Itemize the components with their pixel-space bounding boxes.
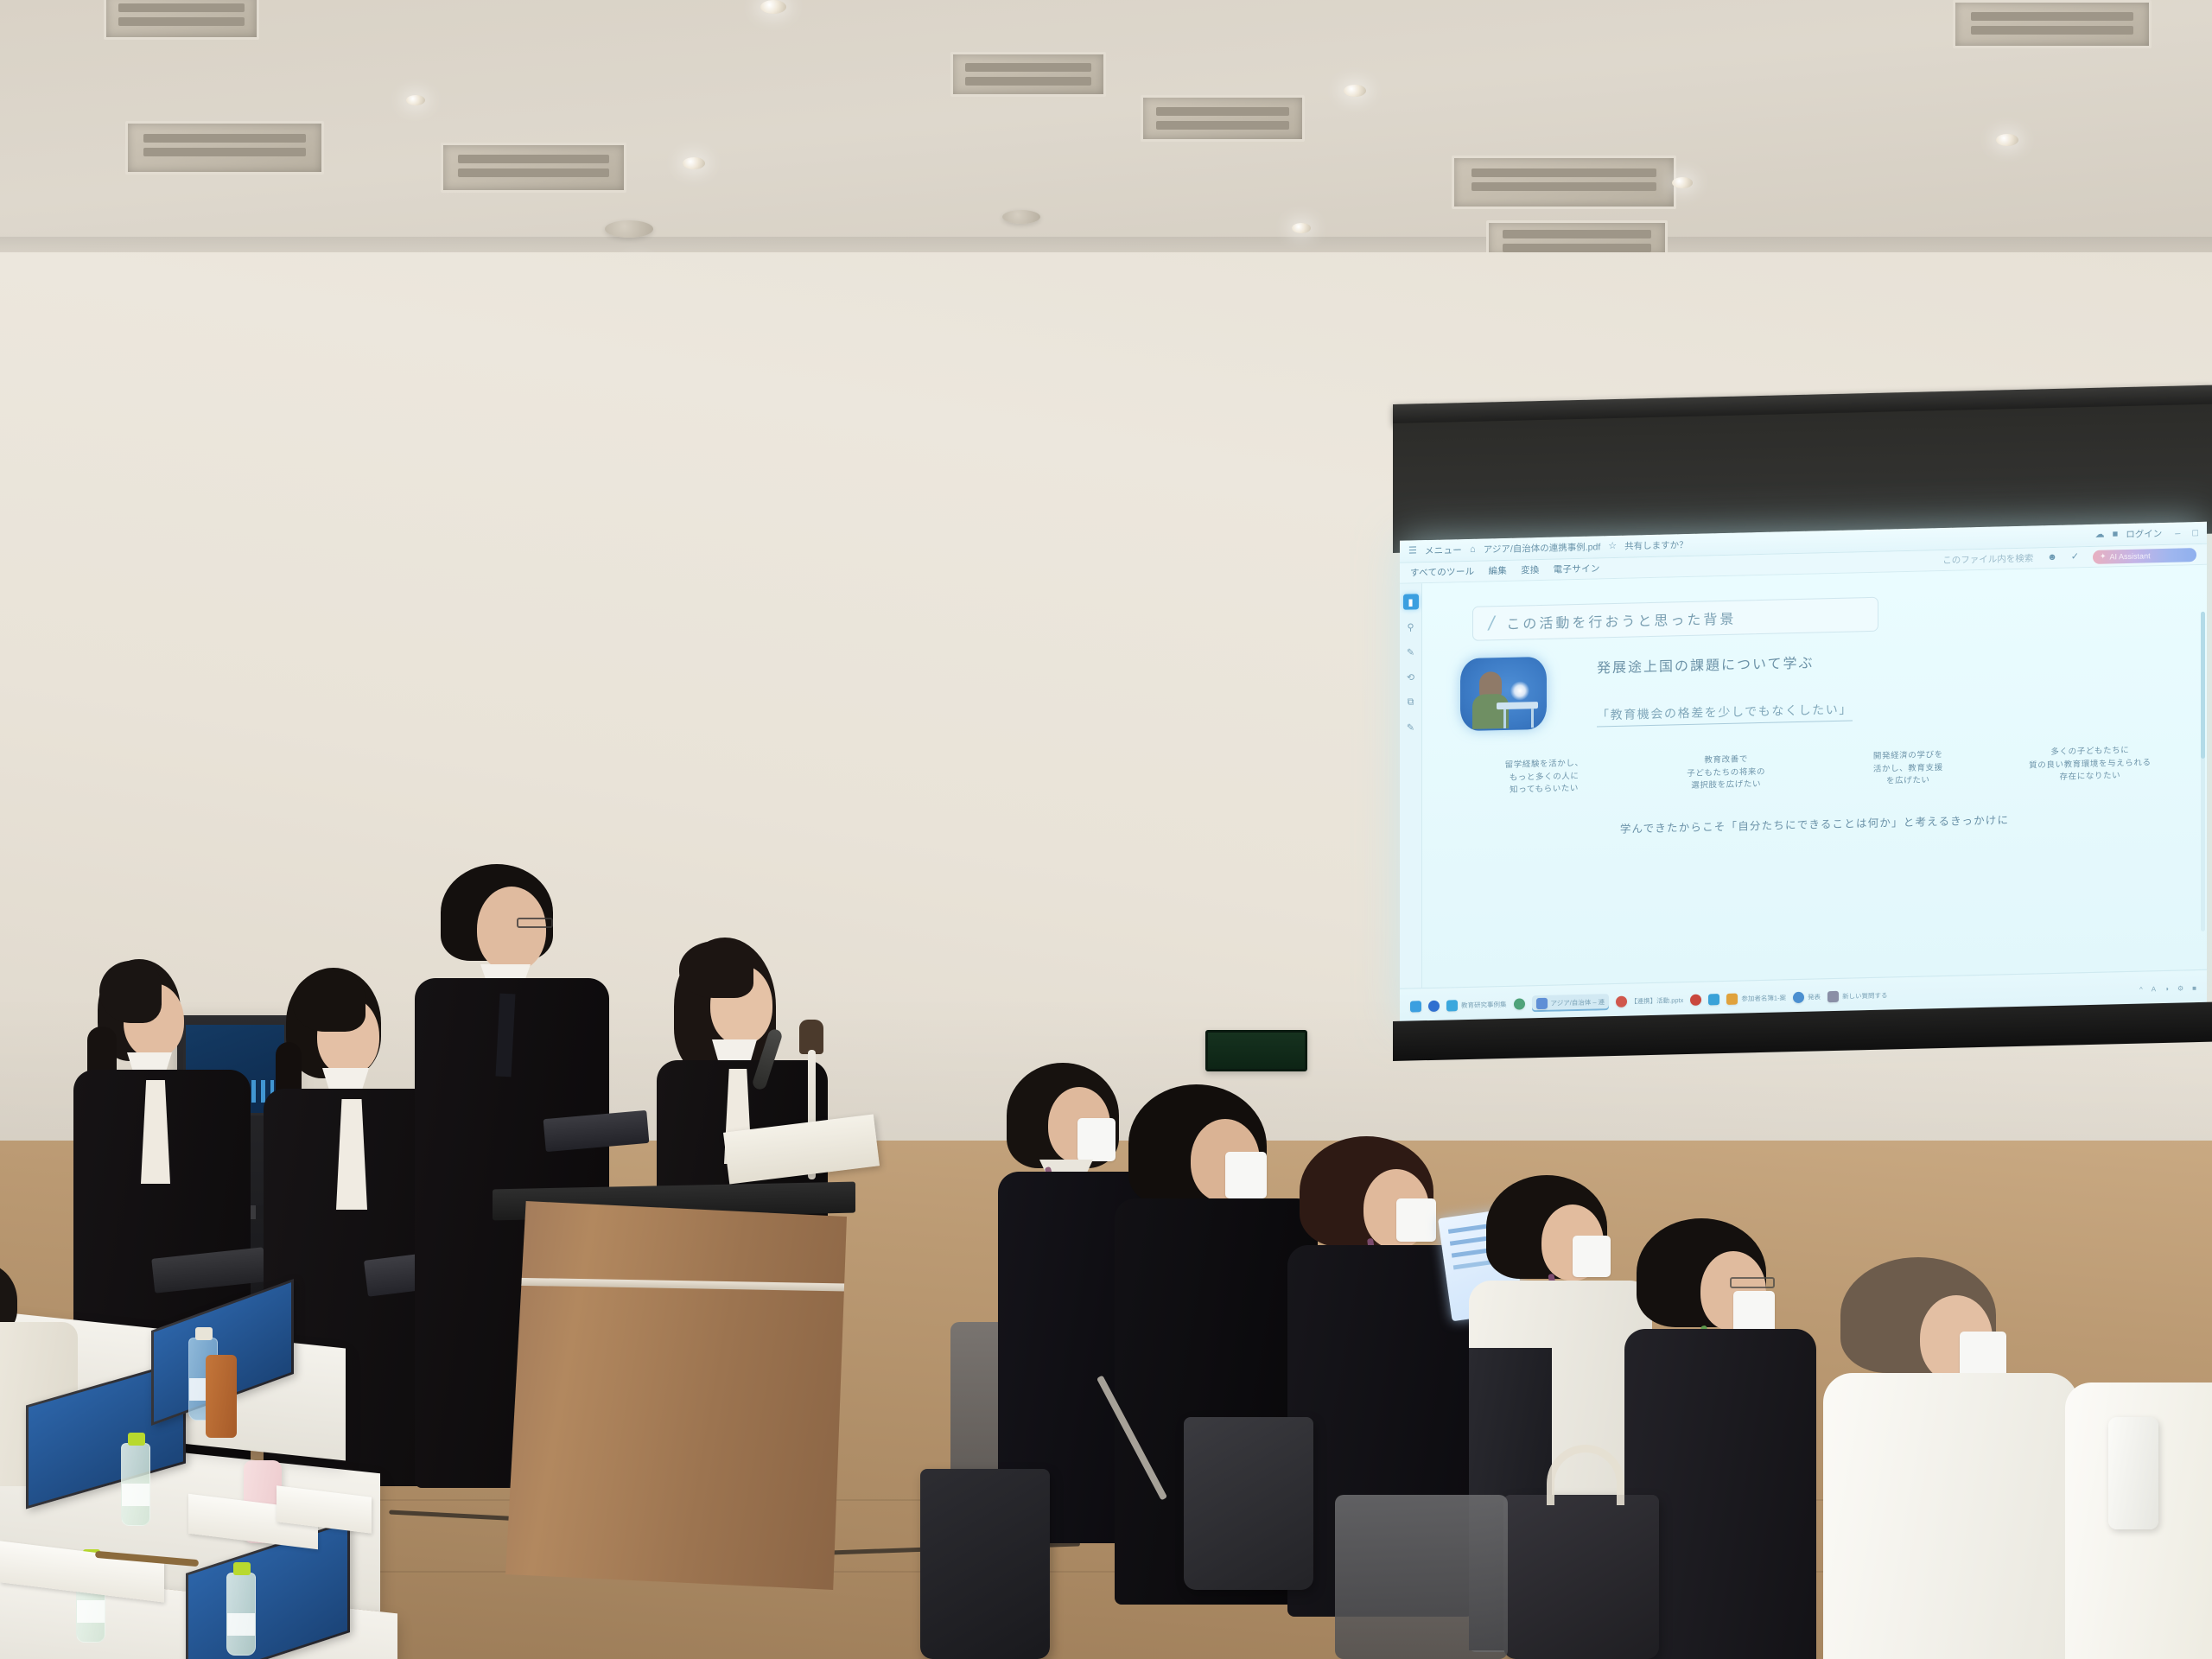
hamburger-menu-icon[interactable]: ☰ — [1408, 546, 1417, 556]
slide-heading-text: この活動を行おうと思った背景 — [1506, 607, 1736, 633]
water-bottle-1 — [121, 1443, 150, 1526]
face-mask — [1077, 1118, 1116, 1161]
ceiling-vent-4 — [950, 52, 1106, 97]
taskbar-app-5-active[interactable]: アジア/自治体 – 連 — [1532, 994, 1610, 1012]
maximize-button[interactable]: □ — [2192, 528, 2198, 538]
taskbar-app-10[interactable]: 発表 — [1793, 991, 1821, 1003]
minimize-button[interactable]: – — [2175, 528, 2180, 538]
taskbar-label-5: アジア/自治体 – 連 — [1551, 997, 1605, 1007]
taskbar-app-4[interactable] — [1514, 998, 1525, 1009]
check-icon[interactable]: ✓ — [2071, 552, 2079, 562]
head — [477, 887, 546, 971]
menu-esign[interactable]: 電子サイン — [1554, 562, 1600, 575]
tray-network-icon[interactable]: ◑ — [2164, 985, 2169, 993]
downlight-6 — [1292, 223, 1311, 233]
slide-heading-box: / この活動を行おうと思った背景 — [1472, 597, 1878, 641]
sparkle-icon: ✦ — [2100, 552, 2107, 562]
slide-main-line: 発展途上国の課題について学ぶ — [1597, 650, 1853, 677]
pen-tool[interactable]: ✎ — [1403, 644, 1419, 659]
home-icon[interactable]: ⌂ — [1470, 545, 1476, 555]
slide-heading-slash: / — [1486, 612, 1497, 635]
tray-battery-icon[interactable]: ■ — [2192, 984, 2196, 992]
zoom-tool[interactable]: ⚲ — [1403, 619, 1419, 634]
taskbar-label-9: 参加者名簿1-案 — [1741, 993, 1786, 1003]
menu-edit[interactable]: 編集 — [1488, 564, 1507, 578]
taskbar-label-3: 教育研究事例集 — [1461, 1000, 1507, 1010]
taskbar-app-2[interactable] — [1428, 1001, 1440, 1012]
search-input[interactable]: このファイル内を検索 — [1942, 552, 2033, 567]
taskbar-app-1[interactable] — [1410, 1001, 1421, 1012]
thermos-tumbler-right — [2108, 1417, 2158, 1529]
projection-screen: ☰ メニュー ⌂ アジア/自治体の連携事例.pdf ☆ 共有しますか？ ☁ ■ … — [1393, 385, 2212, 1061]
slide-main-row: 発展途上国の課題について学ぶ 「教育機会の格差を少しでもなくしたい」 — [1460, 641, 2207, 731]
ceiling-vent-6 — [1452, 156, 1676, 209]
downlight-8 — [1672, 177, 1693, 188]
pdf-scrollbar[interactable] — [2201, 612, 2205, 931]
face-mask — [1396, 1198, 1436, 1242]
account-icon[interactable]: ■ — [2113, 530, 2119, 539]
star-icon[interactable]: ☆ — [1608, 542, 1617, 551]
ceiling-vent-8 — [1953, 0, 2152, 48]
taskbar-app-8[interactable] — [1708, 994, 1719, 1005]
attendee-white-shirt-2 — [1823, 1257, 2082, 1659]
hair-front — [99, 961, 162, 1023]
taskbar-label-11: 新しい質問する — [1842, 991, 1888, 1001]
tea-bottle — [206, 1355, 237, 1438]
taskbar-app-7[interactable] — [1690, 995, 1701, 1006]
projected-image: ☰ メニュー ⌂ アジア/自治体の連携事例.pdf ☆ 共有しますか？ ☁ ■ … — [1400, 522, 2207, 1025]
microphone-stand-head — [799, 1020, 823, 1054]
document-name[interactable]: アジア/自治体の連携事例.pdf — [1484, 540, 1601, 556]
smoke-detector-1 — [605, 220, 653, 238]
emoji-icon[interactable]: ☻ — [2047, 553, 2057, 563]
taskbar-label-10: 発表 — [1808, 992, 1821, 1001]
taskbar-tray: ^ A ◑ ⚙ ■ — [2139, 984, 2196, 994]
reason-column-2: 教育改善で 子どもたちの将来の 選択肢を広げたい — [1649, 753, 1803, 794]
taskbar-app-11[interactable]: 新しい質問する — [1827, 990, 1888, 1003]
downlight-2 — [683, 157, 705, 169]
chair-back-2 — [1335, 1495, 1508, 1659]
bangs — [293, 971, 365, 1032]
bangs — [679, 941, 753, 998]
downlight-5 — [1344, 85, 1366, 97]
face-mask — [1573, 1236, 1611, 1277]
student-studying-at-desk-illustration — [1460, 657, 1547, 731]
tote-bag — [1503, 1495, 1659, 1659]
reason-column-1: 留学経験を活かし、 もっと多くの人に 知ってもらいたい — [1467, 757, 1621, 798]
tray-settings-icon[interactable]: ⚙ — [2177, 984, 2183, 992]
downlight-7 — [1996, 134, 2018, 146]
acrobat-tool-rail: ▮ ⚲ ✎ ⟲ ⧉ ✎ — [1400, 583, 1422, 988]
slide-closing-line: 学んできたからこそ「自分たちにできることは何か」と考えるきっかけに — [1460, 808, 2169, 842]
smoke-detector-2 — [1002, 210, 1040, 224]
face-mask — [1225, 1152, 1267, 1198]
podium — [505, 1201, 847, 1590]
tray-chevron-icon[interactable]: ^ — [2139, 986, 2143, 994]
ceiling-vent-2 — [125, 121, 324, 175]
share-label[interactable]: 共有しますか？ — [1624, 538, 1688, 553]
glasses-icon — [517, 918, 553, 928]
downlight-4 — [406, 95, 425, 105]
backpack — [1184, 1417, 1313, 1590]
taskbar-app-3[interactable]: 教育研究事例集 — [1446, 999, 1507, 1012]
ceiling-vent-1 — [104, 0, 259, 40]
select-tool[interactable]: ▮ — [1403, 594, 1419, 609]
slide-quote-line: 「教育機会の格差を少しでもなくしたい」 — [1597, 700, 1853, 727]
menu-label[interactable]: メニュー — [1425, 543, 1462, 557]
white-shirt — [1823, 1373, 2078, 1659]
taskbar-label-6: 【連携】活動.pptx — [1630, 995, 1683, 1006]
cloud-sync-icon[interactable]: ☁ — [2095, 531, 2105, 540]
lasso-tool[interactable]: ⟲ — [1403, 669, 1419, 684]
glasses-icon — [1730, 1277, 1775, 1288]
ai-assistant-button[interactable]: ✦ AI Assistant — [2093, 548, 2196, 564]
ceiling-vent-5 — [1141, 95, 1305, 142]
water-bottle-3 — [226, 1573, 256, 1656]
reason-column-4: 多くの子どもたちに 質の良い教育環境を与えられる 存在になりたい — [2013, 744, 2167, 785]
tray-ime-icon[interactable]: A — [2152, 985, 2156, 993]
ai-assistant-label: AI Assistant — [2110, 551, 2151, 561]
signature-tool[interactable]: ✎ — [1403, 719, 1419, 734]
tote-bag-2 — [920, 1469, 1050, 1659]
conference-room-scene: ☰ メニュー ⌂ アジア/自治体の連携事例.pdf ☆ 共有しますか？ ☁ ■ … — [0, 0, 2212, 1659]
downlight-1 — [760, 0, 786, 14]
exit-sign — [1205, 1030, 1307, 1071]
acrobat-window: ☰ メニュー ⌂ アジア/自治体の連携事例.pdf ☆ 共有しますか？ ☁ ■ … — [1400, 522, 2207, 1025]
account-label[interactable]: ログイン — [2126, 527, 2162, 541]
taskbar-app-9[interactable]: 参加者名簿1-案 — [1726, 992, 1786, 1005]
ceiling — [0, 0, 2212, 259]
menu-all-tools[interactable]: すべてのツール — [1410, 565, 1474, 580]
stamp-tool[interactable]: ⧉ — [1403, 694, 1419, 709]
pdf-page[interactable]: / この活動を行おうと思った背景 発展途上国の課題について学ぶ 「教育機会の格差… — [1422, 565, 2207, 988]
ceiling-vent-3 — [441, 143, 626, 193]
taskbar-app-6[interactable]: 【連携】活動.pptx — [1616, 995, 1683, 1007]
reason-column-3: 開発経済の学びを 活かし、教育支援 を広げたい — [1831, 748, 1985, 790]
slide-reason-columns: 留学経験を活かし、 もっと多くの人に 知ってもらいたい 教育改善で 子どもたちの… — [1467, 744, 2167, 798]
menu-convert[interactable]: 変換 — [1521, 563, 1540, 577]
